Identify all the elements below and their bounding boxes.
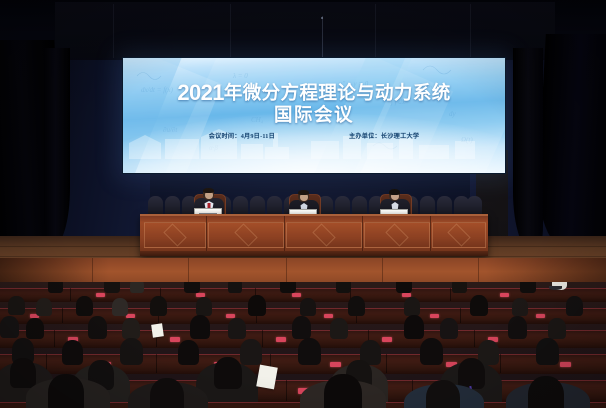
handout-paper [151, 323, 164, 337]
audience-member [62, 340, 83, 365]
audience-member [36, 298, 52, 316]
seat-number-label [170, 337, 180, 342]
audience-member [470, 295, 488, 316]
audience-member [298, 338, 321, 365]
audience-member [292, 316, 311, 339]
audience-member [280, 282, 296, 293]
audience-member [184, 282, 200, 293]
ceiling-beam [55, 2, 555, 58]
seat-divider [474, 330, 475, 347]
audience-member [404, 297, 420, 316]
stage-chair [267, 196, 282, 216]
stage-chair [467, 196, 482, 216]
seat-number-label [536, 314, 545, 318]
speaker-hair [298, 190, 309, 195]
seat-divider [54, 330, 55, 347]
ceiling-seam [470, 4, 471, 58]
speaker-head [203, 188, 214, 200]
stage-chair [148, 196, 163, 216]
ceiling-seam [230, 4, 231, 58]
audience-member [520, 282, 536, 293]
table-seam [284, 216, 285, 256]
stage-curtain-left-inner [44, 48, 70, 248]
audience-member [396, 282, 412, 293]
table-base-trim [140, 251, 488, 256]
seat-divider [460, 308, 461, 323]
conference-hall-photo: dx/dt = f(x) λ = 0 ∂u/∂t CH₄ α·β ∑ xₙ dy… [0, 0, 606, 408]
audience-member [48, 374, 84, 408]
ceiling-light-point [321, 17, 323, 19]
audience-member [458, 358, 485, 389]
seat-divider [70, 288, 71, 301]
audience-member [48, 282, 63, 293]
ceiling-seam [113, 4, 114, 58]
seat-number-label [500, 293, 509, 297]
screen-subtitle-organizer: 主办单位：长沙理工大学 [349, 133, 419, 141]
audience-member [440, 318, 458, 339]
stage-chair [352, 196, 367, 216]
panel-diamond [447, 223, 470, 246]
handout-paper [256, 365, 278, 390]
audience-member [120, 338, 143, 365]
audience-member [330, 318, 348, 339]
speaker-head [389, 189, 400, 201]
screen-title-line-1-rest: 年微分方程理论与动力系统 [224, 84, 451, 104]
floor-plank-line [0, 256, 606, 257]
seat-number-label [292, 293, 301, 297]
svg-text:λ = 0: λ = 0 [232, 72, 248, 80]
audience-member [536, 338, 559, 365]
speaker-head [298, 190, 309, 202]
seat-divider [286, 380, 287, 401]
audience-member [528, 376, 564, 408]
screen-subtitle-row: 会议时间：4月9日-11日 主办单位：长沙理工大学 [123, 133, 505, 141]
panel-diamond [385, 223, 408, 246]
audience-member [228, 318, 246, 339]
audience-member [104, 282, 120, 293]
audience-member [404, 315, 424, 339]
audience-member [190, 315, 210, 339]
audience-member [10, 358, 36, 388]
seat-number-label [560, 362, 571, 367]
stage-chair [437, 196, 452, 216]
panel-diamond [234, 223, 257, 246]
audience-member [0, 316, 19, 338]
screen-title-year: 2021 [177, 80, 224, 105]
audience-member [178, 340, 199, 365]
screen-title-line-1: 2021年微分方程理论与动力系统 [123, 82, 505, 105]
table-seam [362, 216, 363, 256]
screen-title-line-2: 国际会议 [123, 105, 505, 127]
audience-member [8, 296, 25, 315]
stage-curtain-right-outer [534, 34, 606, 256]
audience-member [196, 297, 212, 316]
audience-member [300, 298, 316, 316]
ceiling-seam [375, 4, 376, 58]
audience-member [512, 298, 528, 316]
seat-number-label [96, 293, 105, 297]
audience-member [508, 316, 527, 339]
seat-number-label [276, 337, 286, 342]
audience-member [336, 282, 351, 293]
audience-member [248, 295, 266, 316]
speaker-hair [389, 189, 400, 195]
audience-member [426, 380, 460, 408]
audience-member [150, 296, 167, 316]
presidium-table-front [140, 216, 488, 256]
audience-member [452, 282, 467, 293]
audience-member [214, 357, 242, 389]
seat-number-label [382, 337, 392, 342]
audience-member [76, 296, 93, 316]
panel-diamond [312, 223, 335, 246]
audience-member-with-cap [552, 282, 567, 290]
presidium-table [140, 214, 488, 256]
table-seam [430, 216, 431, 256]
audience-member [420, 338, 443, 365]
audience-member [324, 374, 362, 408]
stage-chair [233, 196, 248, 216]
panel-diamond [163, 223, 186, 246]
screen-surface: dx/dt = f(x) λ = 0 ∂u/∂t CH₄ α·β ∑ xₙ dy… [123, 58, 505, 173]
audience-member [130, 282, 144, 293]
seat-divider [500, 354, 501, 373]
audience-member [240, 339, 262, 365]
seat-number-label [324, 314, 333, 318]
audience-member [566, 296, 583, 316]
seat-divider [386, 354, 387, 373]
audience-member [122, 318, 140, 339]
stage-chair [250, 196, 265, 216]
stage-curtain-right-inner [513, 48, 543, 254]
audience-member [228, 282, 242, 293]
stage-chair [165, 196, 180, 216]
seat-divider [62, 308, 63, 323]
screen-subtitle-date: 会议时间：4月9日-11日 [209, 133, 275, 141]
table-seam [206, 216, 207, 256]
seat-divider [450, 288, 451, 301]
audience-member [348, 296, 365, 316]
audience-area [0, 282, 606, 408]
audience-member [150, 378, 184, 408]
stage-chair [335, 196, 350, 216]
audience-member [26, 318, 44, 339]
speaker-hair [203, 188, 214, 193]
seat-number-label [430, 314, 439, 318]
audience-member [112, 298, 128, 316]
audience-member [548, 318, 566, 339]
seat-number-label [330, 362, 341, 367]
stage-chair [420, 196, 435, 216]
audience-member [88, 316, 107, 339]
screen-title-block: 2021年微分方程理论与动力系统 国际会议 [123, 82, 505, 127]
led-stage-screen: dx/dt = f(x) λ = 0 ∂u/∂t CH₄ α·β ∑ xₙ dy… [122, 57, 506, 174]
seat-divider [156, 354, 157, 373]
seat-divider [262, 330, 263, 347]
